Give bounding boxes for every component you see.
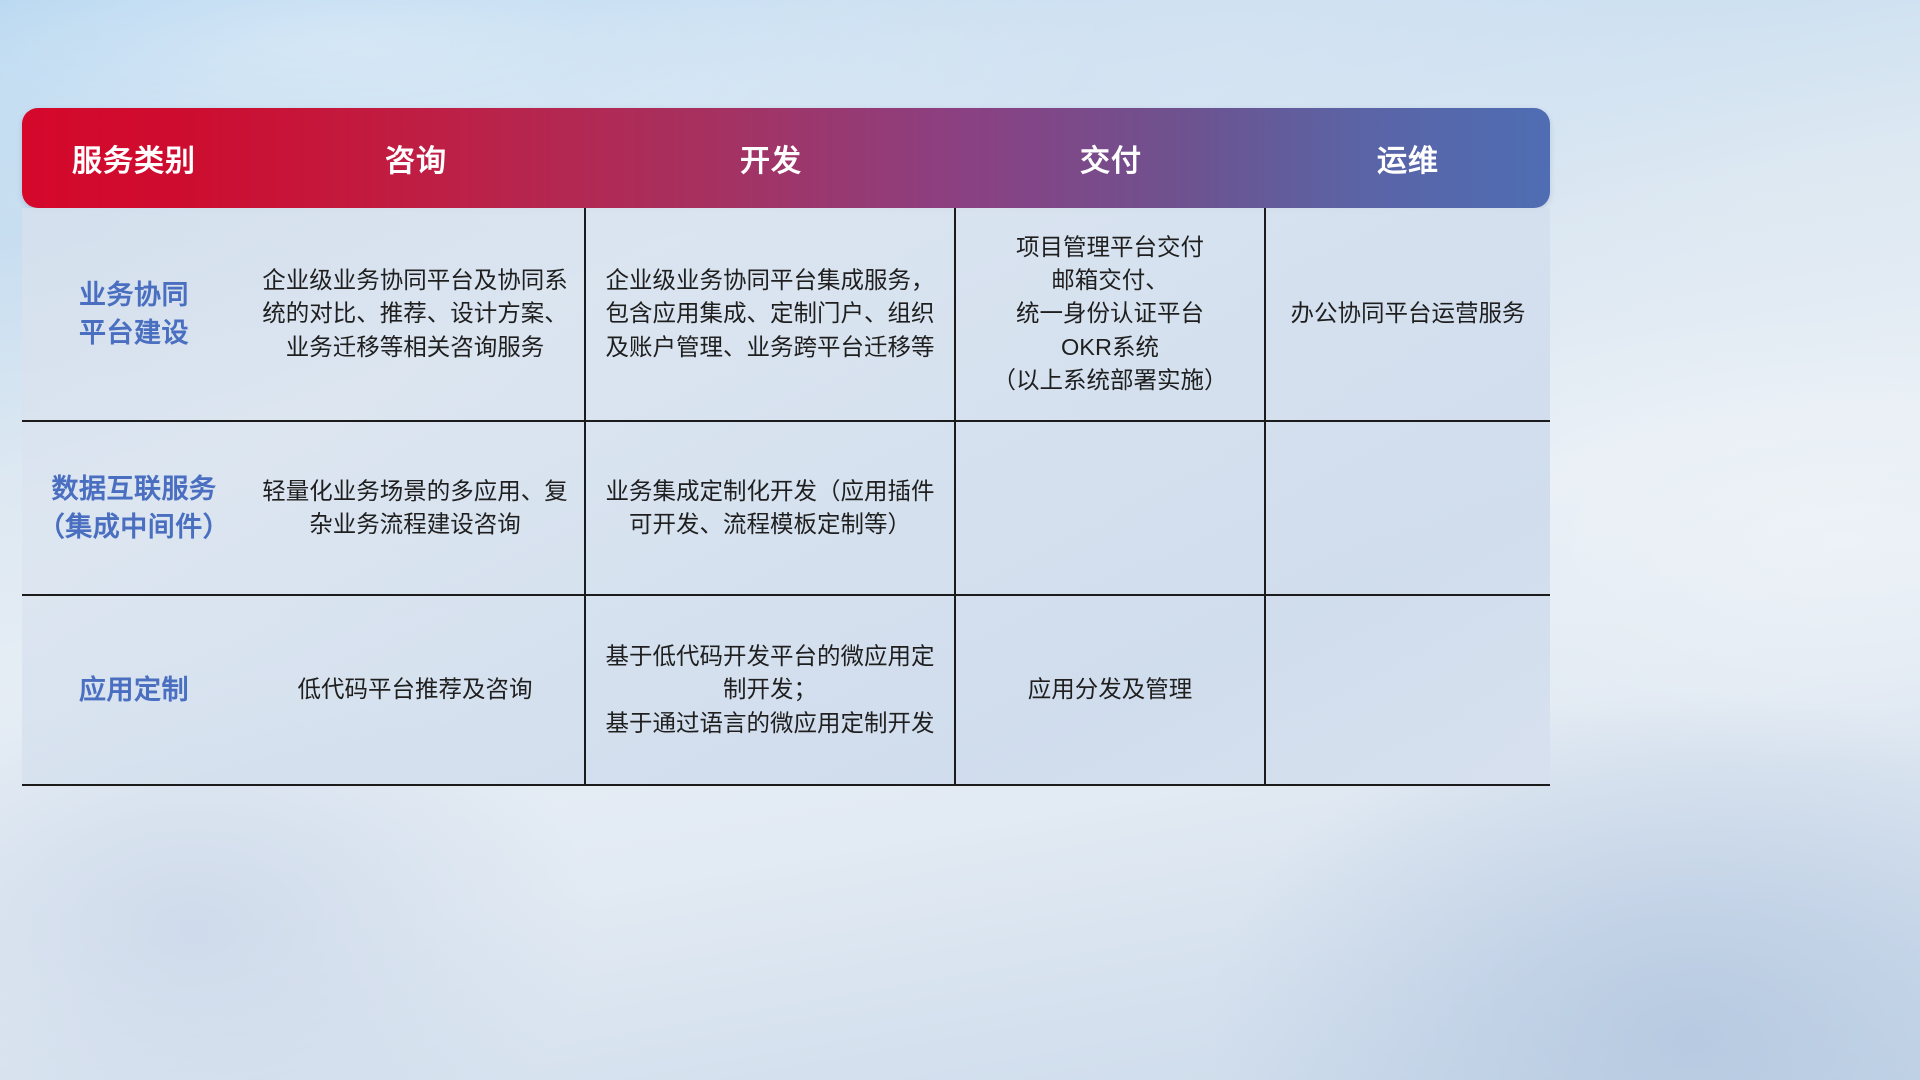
cell-text: 项目管理平台交付 邮箱交付、 统一身份认证平台 OKR系统 （以上系统部署实施） [993,231,1228,398]
category-label: 应用定制 [79,671,189,709]
category-label: 业务协同 平台建设 [79,276,189,353]
delivery-cell [956,422,1266,594]
cell-text: 应用分发及管理 [1028,673,1193,706]
delivery-cell: 应用分发及管理 [956,596,1266,784]
row-category-cell: 数据互联服务 （集成中间件） [22,422,246,594]
cell-text: 办公协同平台运营服务 [1291,297,1526,330]
operations-cell [1266,596,1550,784]
category-label: 数据互联服务 （集成中间件） [38,470,231,547]
table-row: 应用定制 低代码平台推荐及咨询 基于低代码开发平台的微应用定 制开发； 基于通过… [22,596,1550,786]
cell-text: 低代码平台推荐及咨询 [298,673,533,706]
column-header-service-category: 服务类别 [22,136,246,180]
row-category-cell: 业务协同 平台建设 [22,208,246,420]
table-row: 业务协同 平台建设 企业级业务协同平台及协同系 统的对比、推荐、设计方案、 业务… [22,208,1550,422]
cell-text: 业务集成定制化开发（应用插件 可开发、流程模板定制等） [606,475,935,542]
cell-text: 企业级业务协同平台及协同系 统的对比、推荐、设计方案、 业务迁移等相关咨询服务 [262,264,568,364]
column-header-operations: 运维 [1266,136,1550,180]
row-category-cell: 应用定制 [22,596,246,784]
cell-text: 基于低代码开发平台的微应用定 制开发； 基于通过语言的微应用定制开发 [606,640,935,740]
cell-text: 轻量化业务场景的多应用、复 杂业务流程建设咨询 [262,475,568,542]
operations-cell: 办公协同平台运营服务 [1266,208,1550,420]
development-cell: 业务集成定制化开发（应用插件 可开发、流程模板定制等） [586,422,956,594]
table-row: 数据互联服务 （集成中间件） 轻量化业务场景的多应用、复 杂业务流程建设咨询 业… [22,422,1550,596]
delivery-cell: 项目管理平台交付 邮箱交付、 统一身份认证平台 OKR系统 （以上系统部署实施） [956,208,1266,420]
column-header-development: 开发 [586,136,956,180]
table-body: 业务协同 平台建设 企业级业务协同平台及协同系 统的对比、推荐、设计方案、 业务… [22,208,1550,786]
cell-text: 企业级业务协同平台集成服务， 包含应用集成、定制门户、组织 及账户管理、业务跨平… [606,264,935,364]
consulting-cell: 企业级业务协同平台及协同系 统的对比、推荐、设计方案、 业务迁移等相关咨询服务 [246,208,586,420]
development-cell: 企业级业务协同平台集成服务， 包含应用集成、定制门户、组织 及账户管理、业务跨平… [586,208,956,420]
operations-cell [1266,422,1550,594]
column-header-delivery: 交付 [956,136,1266,180]
table-header-row: 服务类别 咨询 开发 交付 运维 [22,108,1550,208]
consulting-cell: 轻量化业务场景的多应用、复 杂业务流程建设咨询 [246,422,586,594]
service-matrix-table: 服务类别 咨询 开发 交付 运维 业务协同 平台建设 企业级业务协同平台及协同系… [22,108,1550,780]
development-cell: 基于低代码开发平台的微应用定 制开发； 基于通过语言的微应用定制开发 [586,596,956,784]
consulting-cell: 低代码平台推荐及咨询 [246,596,586,784]
column-header-consulting: 咨询 [246,136,586,180]
